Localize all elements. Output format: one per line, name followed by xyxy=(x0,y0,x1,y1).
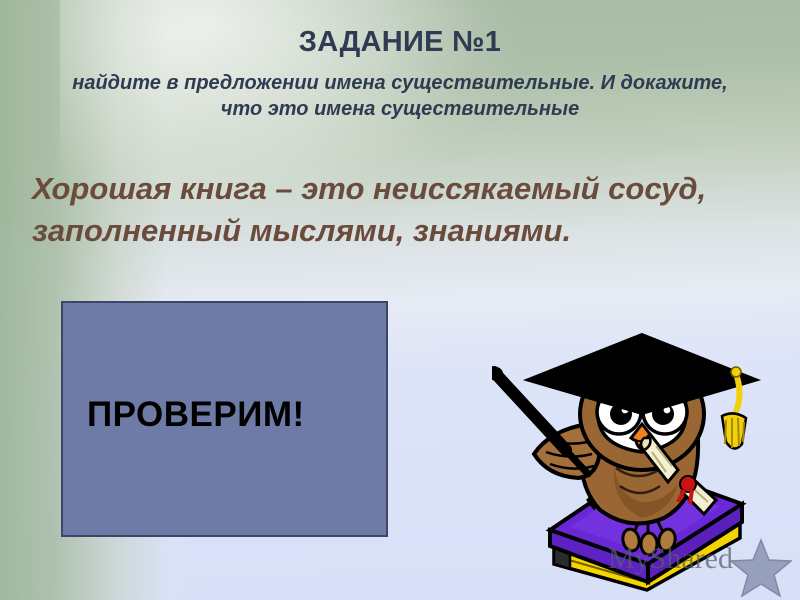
check-answer-label: ПРОВЕРИМ! xyxy=(87,395,305,435)
slide-canvas: ЗАДАНИЕ №1 найдите в предложении имена с… xyxy=(0,0,800,600)
check-answer-button[interactable]: ПРОВЕРИМ! xyxy=(61,301,388,537)
page-title: ЗАДАНИЕ №1 xyxy=(0,26,800,59)
task-instruction: найдите в предложении имена существитель… xyxy=(70,70,730,123)
exercise-sentence: Хорошая книга – это неиссякаемый сосуд, … xyxy=(32,168,770,251)
owl-with-graduation-cap-on-book-illustration xyxy=(492,332,792,594)
